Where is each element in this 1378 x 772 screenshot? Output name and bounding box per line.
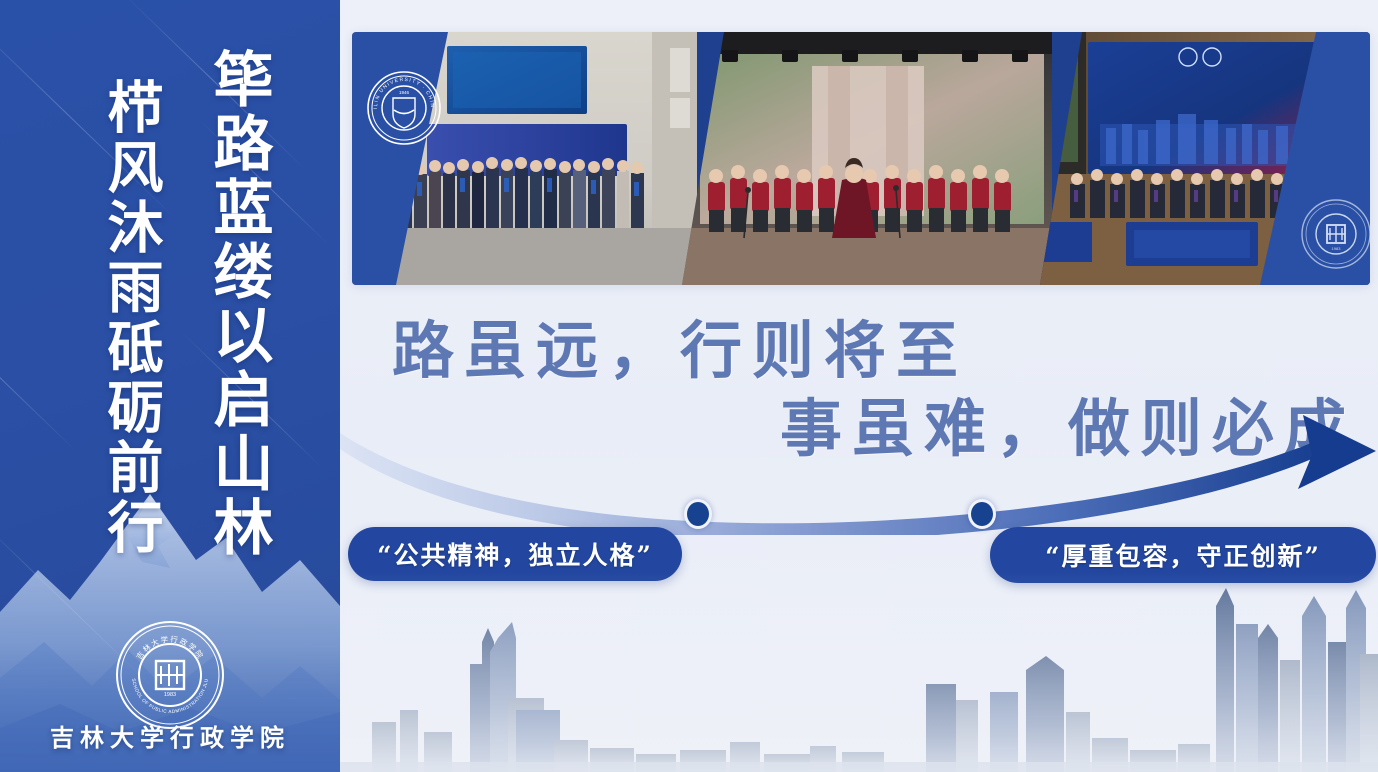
calligraphy-column-1: 筚路蓝缕以启山林 [195, 48, 282, 560]
school-seal-icon: 吉林大学行政学院 SCHOOL OF PUBLIC ADMINISTRATION… [115, 620, 225, 730]
timeline-node-2[interactable] [968, 499, 996, 529]
city-skyline-icon [340, 572, 1378, 772]
calligraphy-column-2: 栉风沐雨砥砺前行 [91, 78, 172, 558]
poster-canvas: 筚路蓝缕以启山林 栉风沐雨砥砺前行 吉林大学行政学院 SCHOOL OF PUB… [0, 0, 1378, 772]
svg-text:1983: 1983 [1332, 246, 1342, 251]
photo-item[interactable] [682, 32, 1052, 285]
left-calligraphy: 筚路蓝缕以启山林 栉风沐雨砥砺前行 [0, 0, 340, 660]
rising-arrow-icon [340, 415, 1378, 535]
left-panel: 筚路蓝缕以启山林 栉风沐雨砥砺前行 吉林大学行政学院 SCHOOL OF PUB… [0, 0, 340, 772]
photo-strip: JILIN UNIVERSITY · CHINA 1946 [352, 32, 1370, 285]
svg-text:1946: 1946 [399, 90, 410, 95]
photo-item[interactable]: 1983 [1040, 32, 1370, 285]
school-name-label: 吉林大学行政学院 [0, 718, 340, 753]
timeline-node-1[interactable] [684, 499, 712, 529]
photo-item[interactable]: JILIN UNIVERSITY · CHINA 1946 [352, 32, 697, 285]
svg-text:1983: 1983 [164, 692, 176, 698]
school-seal-icon: 1983 [1300, 198, 1370, 270]
jilin-university-seal-icon: JILIN UNIVERSITY · CHINA 1946 [366, 70, 442, 146]
headline-line-1: 路虽远，行则将至 [392, 300, 968, 390]
right-content-area: JILIN UNIVERSITY · CHINA 1946 [340, 0, 1378, 772]
